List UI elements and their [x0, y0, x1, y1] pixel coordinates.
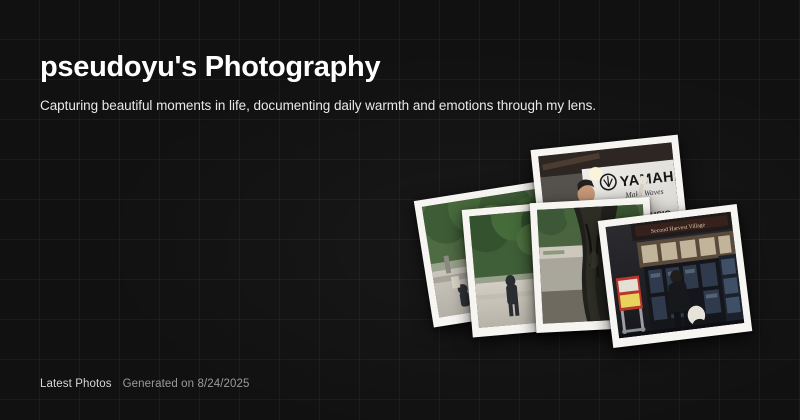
footer-generated-on: Generated on 8/24/2025 [123, 378, 250, 390]
photo-shopfront-image: Second Harvest Village [606, 212, 745, 339]
page-subtitle: Capturing beautiful moments in life, doc… [40, 97, 596, 115]
footer-meta: Latest Photos Generated on 8/24/2025 [40, 378, 250, 390]
page-title: pseudoyu's Photography [40, 52, 380, 84]
photo-collage: YAMAHA Make Waves [415, 130, 785, 380]
og-card: pseudoyu's Photography Capturing beautif… [0, 0, 800, 420]
card-content: pseudoyu's Photography Capturing beautif… [0, 0, 800, 420]
footer-section-label: Latest Photos [40, 378, 112, 390]
photo-shopfront: Second Harvest Village [598, 204, 753, 348]
